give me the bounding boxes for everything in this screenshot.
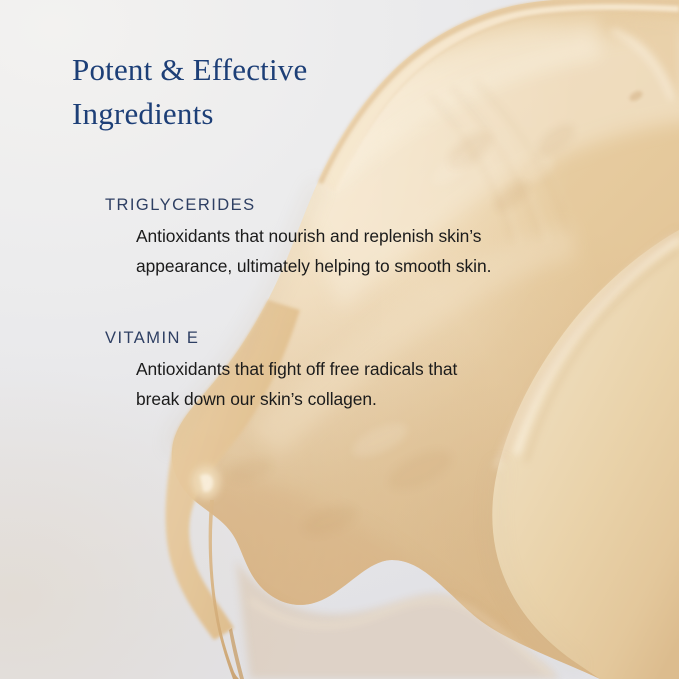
- ingredient-description-triglycerides: Antioxidants that nourish and replenish …: [0, 222, 679, 282]
- description-line-2: appearance, ultimately helping to smooth…: [136, 252, 639, 282]
- ingredient-heading-vitamin-e: VITAMIN E: [0, 329, 679, 348]
- ingredient-triglycerides: TRIGLYCERIDES Antioxidants that nourish …: [0, 196, 679, 282]
- description-line-2: break down our skin’s collagen.: [136, 385, 639, 415]
- ingredient-infographic: Potent & EffectiveIngredients TRIGLYCERI…: [0, 0, 679, 679]
- ingredient-vitamin-e: VITAMIN E Antioxidants that fight off fr…: [0, 329, 679, 415]
- page-title-line-2: Ingredients: [72, 96, 214, 131]
- page-title: Potent & EffectiveIngredients: [72, 48, 452, 136]
- ingredient-heading-triglycerides: TRIGLYCERIDES: [0, 196, 679, 215]
- page-title-line-1: Potent & Effective: [72, 52, 307, 87]
- description-line-1: Antioxidants that fight off free radical…: [136, 355, 639, 385]
- description-line-1: Antioxidants that nourish and replenish …: [136, 222, 639, 252]
- text-content: Potent & EffectiveIngredients TRIGLYCERI…: [0, 0, 679, 679]
- ingredient-list: TRIGLYCERIDES Antioxidants that nourish …: [0, 196, 679, 415]
- ingredient-description-vitamin-e: Antioxidants that fight off free radical…: [0, 355, 679, 415]
